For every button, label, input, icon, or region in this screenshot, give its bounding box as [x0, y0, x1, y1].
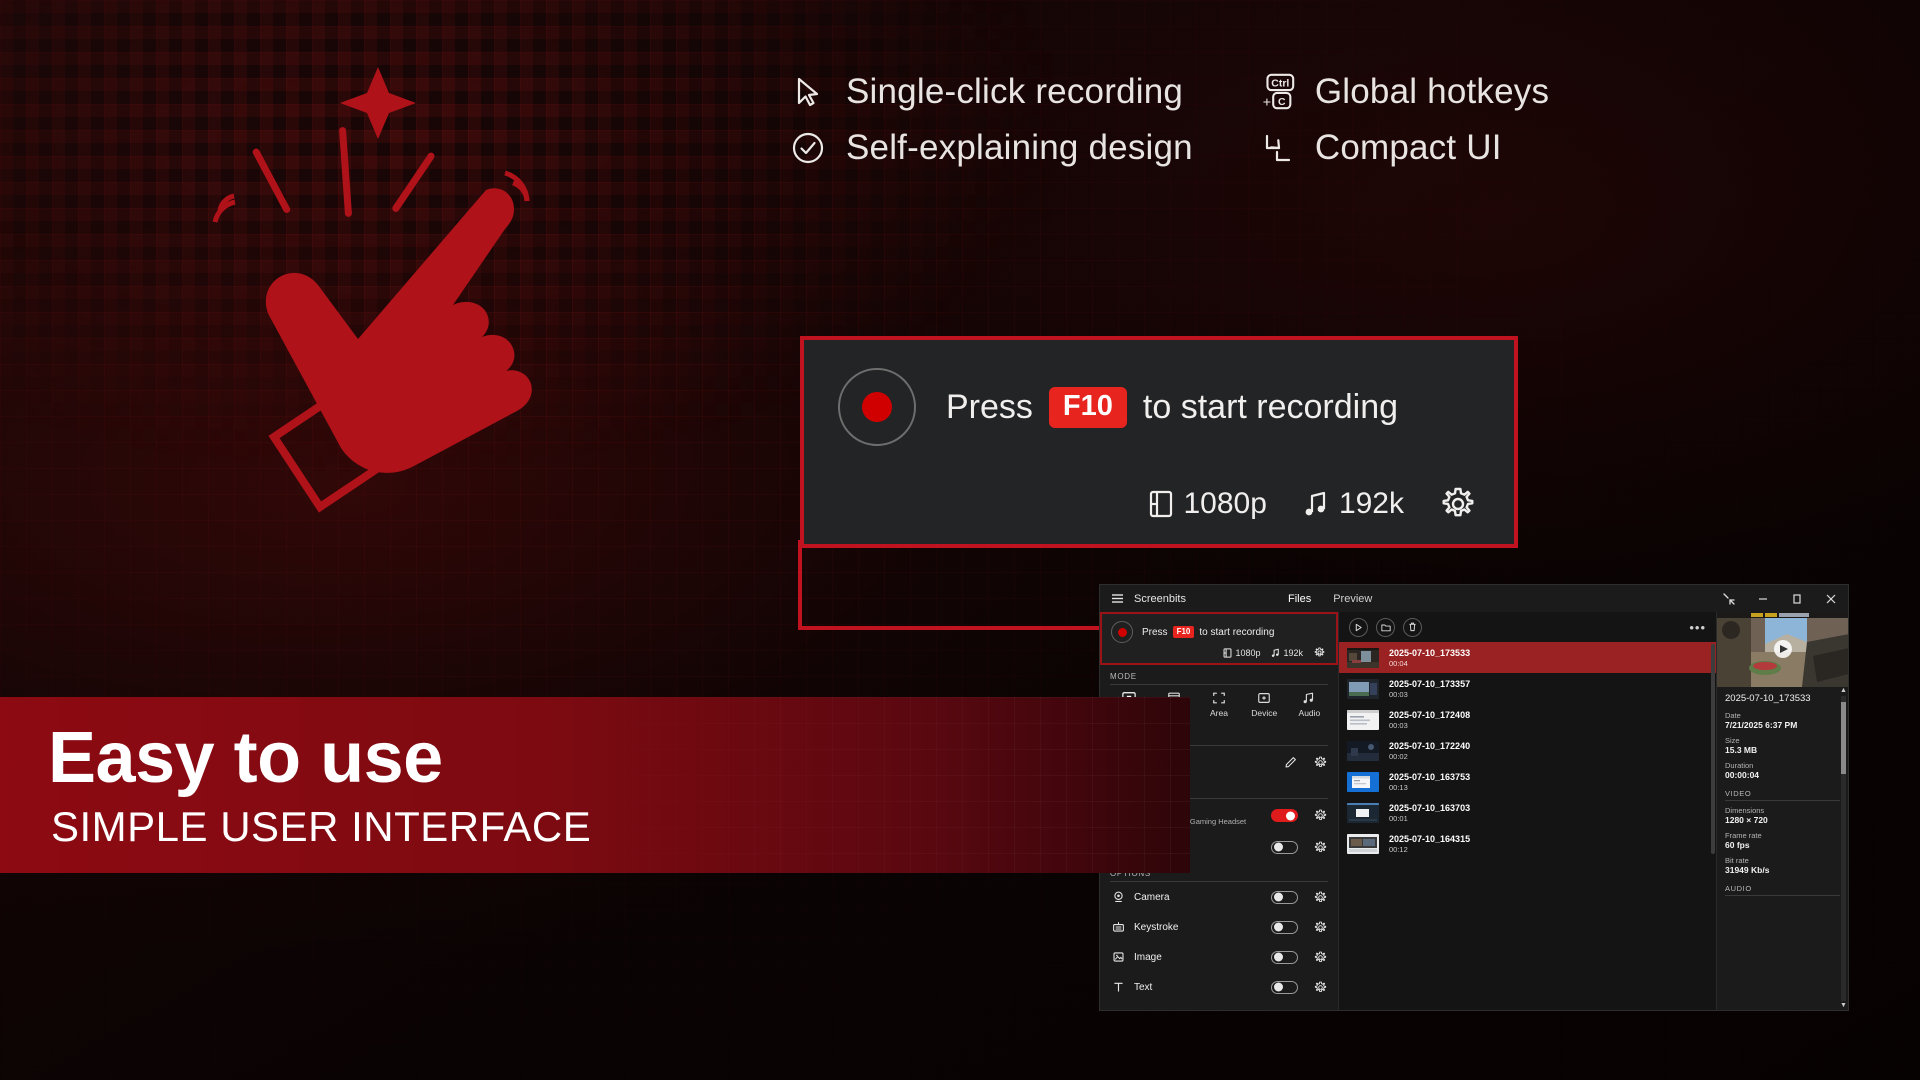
gear-icon[interactable]: [1312, 891, 1328, 904]
gear-icon[interactable]: [1312, 841, 1328, 854]
window-controls: [1712, 585, 1848, 612]
record-dot-icon: [862, 392, 892, 422]
feature-item-compact-ui: Compact UI: [1257, 128, 1549, 168]
image-toggle[interactable]: [1271, 951, 1298, 964]
file-list-item[interactable]: 2025-07-10_164315 00:12: [1339, 828, 1716, 859]
detail-value: 7/21/2025 6:37 PM: [1725, 720, 1840, 730]
detail-value: 31949 Kb/s: [1725, 865, 1840, 875]
option-title: Camera: [1134, 892, 1170, 903]
feature-item-self-explaining: Self-explaining design: [788, 128, 1193, 168]
thumbnail: [1347, 710, 1379, 730]
inline-widget-status: 1080p 192k: [1111, 647, 1327, 658]
hotkey-badge: F10: [1173, 626, 1195, 638]
motion-line-1: [251, 147, 291, 214]
gear-icon: [1440, 486, 1476, 522]
action-label: to start recording: [1143, 388, 1398, 427]
feature-list: Single-click recording Ctrl + C Global h…: [788, 72, 1549, 168]
option-row-camera[interactable]: Camera: [1100, 882, 1338, 912]
detail-label: Date: [1725, 711, 1840, 720]
mode-item-device[interactable]: Device: [1242, 691, 1287, 722]
detail-label: Size: [1725, 736, 1840, 745]
feature-label: Compact UI: [1315, 128, 1502, 168]
option-row-image[interactable]: Image: [1100, 942, 1338, 972]
open-folder-button[interactable]: [1376, 618, 1395, 637]
keyboard-icon: [1110, 920, 1126, 934]
file-name: 2025-07-10_164315: [1389, 834, 1470, 844]
option-row-keystroke[interactable]: Keystroke: [1100, 912, 1338, 942]
mode-label: Device: [1251, 708, 1277, 718]
ctrl-c-keys-icon: Ctrl + C: [1257, 72, 1297, 112]
gear-icon[interactable]: [1312, 981, 1328, 994]
gear-icon[interactable]: [1312, 921, 1328, 934]
file-list-item[interactable]: 2025-07-10_173357 00:03: [1339, 673, 1716, 704]
detail-value: 00:00:04: [1725, 770, 1840, 780]
camera-toggle[interactable]: [1271, 891, 1298, 904]
file-duration: 00:04: [1389, 659, 1470, 668]
file-name: 2025-07-10_173533: [1389, 648, 1470, 658]
app-titlebar: Screenbits Files Preview: [1100, 585, 1848, 612]
recording-widget-top-row: Press F10 to start recording: [838, 368, 1480, 446]
recording-hint: Press F10 to start recording: [946, 387, 1398, 428]
file-duration: 00:01: [1389, 814, 1470, 823]
mode-item-area[interactable]: Area: [1196, 691, 1241, 722]
resolution-value: 1080p: [1184, 487, 1267, 521]
gear-icon[interactable]: [1312, 809, 1328, 822]
detail-bitrate: Bit rate 31949 Kb/s: [1725, 856, 1840, 875]
divider: [1725, 895, 1840, 896]
speakers-toggle[interactable]: [1271, 809, 1298, 822]
details-title: 2025-07-10_173533: [1725, 693, 1840, 704]
hand-shape: [266, 188, 532, 473]
image-icon: [1110, 950, 1126, 964]
mode-label: Audio: [1299, 708, 1321, 718]
gear-icon[interactable]: [1312, 756, 1328, 769]
feature-label: Self-explaining design: [846, 128, 1193, 168]
bitrate-value: 192k: [1283, 648, 1303, 658]
scroll-down-arrow-icon[interactable]: ▼: [1840, 1002, 1847, 1010]
tab-files[interactable]: Files: [1288, 593, 1311, 605]
recording-widget-status-row: 1080p 192k: [838, 486, 1480, 522]
detail-value: 60 fps: [1725, 840, 1840, 850]
file-details: 2025-07-10_173533 Date 7/21/2025 6:37 PM…: [1717, 687, 1848, 1010]
compact-mode-button[interactable]: [1712, 585, 1746, 612]
knuckle-flick-left-2: [215, 202, 235, 222]
motion-line-3: [391, 151, 436, 213]
mode-label: Area: [1210, 708, 1228, 718]
divider: [1725, 800, 1840, 801]
callout-connector-line: [790, 540, 1130, 650]
app-title: Screenbits: [1134, 593, 1186, 605]
file-name: 2025-07-10_163753: [1389, 772, 1470, 782]
section-heading-mode: MODE: [1100, 665, 1338, 684]
file-duration: 00:13: [1389, 783, 1470, 792]
headline: Easy to use: [48, 721, 1190, 797]
record-button-small[interactable]: [1111, 621, 1133, 643]
detail-framerate: Frame rate 60 fps: [1725, 831, 1840, 850]
detail-label: Duration: [1725, 761, 1840, 770]
input-audio-toggle[interactable]: [1271, 841, 1298, 854]
music-note-icon: [1303, 490, 1329, 518]
thumbnail: [1347, 741, 1379, 761]
details-scrollbar[interactable]: ▲ ▼: [1840, 687, 1847, 1010]
feature-item-single-click: Single-click recording: [788, 72, 1193, 112]
option-title: Image: [1134, 952, 1162, 963]
collapse-arrows-icon: [1257, 128, 1297, 168]
file-duration: 00:03: [1389, 690, 1470, 699]
maximize-button[interactable]: [1780, 585, 1814, 612]
settings-button[interactable]: [1314, 647, 1325, 658]
edit-pencil-icon[interactable]: [1282, 756, 1298, 769]
recordings-list[interactable]: 2025-07-10_173533 00:04 2025-07-10_17335…: [1339, 642, 1716, 1010]
file-name: 2025-07-10_172408: [1389, 710, 1470, 720]
crop-area-icon: [1212, 691, 1226, 705]
file-duration: 00:03: [1389, 721, 1470, 730]
detail-dimensions: Dimensions 1280 × 720: [1725, 806, 1840, 825]
svg-text:Ctrl: Ctrl: [1271, 78, 1289, 89]
screenbits-app-window: Screenbits Files Preview: [1100, 585, 1848, 1010]
delete-button[interactable]: [1403, 618, 1422, 637]
option-title: Text: [1134, 982, 1152, 993]
bitrate-stat[interactable]: 192k: [1271, 648, 1303, 658]
feature-item-global-hotkeys: Ctrl + C Global hotkeys: [1257, 72, 1549, 112]
file-duration: 00:02: [1389, 752, 1470, 761]
details-section-audio: AUDIO: [1725, 881, 1840, 893]
pointing-hand-illustration: [195, 55, 565, 575]
thumbnail: [1347, 834, 1379, 854]
file-name: 2025-07-10_172240: [1389, 741, 1470, 751]
audio-wave-icon: [1302, 691, 1316, 705]
detail-date: Date 7/21/2025 6:37 PM: [1725, 711, 1840, 730]
minimize-button[interactable]: [1746, 585, 1780, 612]
svg-text:+: +: [1263, 94, 1271, 110]
file-list-item[interactable]: 2025-07-10_163703 00:01: [1339, 797, 1716, 828]
scroll-up-arrow-icon[interactable]: ▲: [1840, 687, 1847, 695]
bitrate-value: 192k: [1339, 487, 1404, 521]
record-dot-icon: [1118, 628, 1127, 637]
inline-widget-top: Press F10 to start recording: [1111, 621, 1327, 643]
inline-recording-widget: Press F10 to start recording 1080p 192k: [1100, 612, 1338, 665]
app-tabs: Files Preview: [1288, 593, 1372, 605]
detail-label: Frame rate: [1725, 831, 1840, 840]
option-row-text[interactable]: Text: [1100, 972, 1338, 1002]
preview-thumbnail[interactable]: [1717, 612, 1848, 687]
resolution-stat[interactable]: 1080p: [1223, 648, 1260, 658]
subheadline: SIMPLE USER INTERFACE: [51, 803, 1190, 851]
device-capture-icon: [1257, 691, 1271, 705]
text-icon: [1110, 980, 1126, 994]
press-label: Press: [946, 388, 1033, 427]
thumbnail: [1347, 772, 1379, 792]
press-label: Press: [1142, 627, 1168, 638]
app-body: Press F10 to start recording 1080p 192k: [1100, 612, 1848, 1010]
svg-text:C: C: [1278, 97, 1286, 108]
detail-size: Size 15.3 MB: [1725, 736, 1840, 755]
keystroke-toggle[interactable]: [1271, 921, 1298, 934]
feature-label: Single-click recording: [846, 72, 1183, 112]
hamburger-icon[interactable]: [1100, 593, 1134, 604]
play-button[interactable]: [1349, 618, 1368, 637]
close-button[interactable]: [1814, 585, 1848, 612]
hotkey-badge: F10: [1049, 387, 1127, 428]
detail-label: Bit rate: [1725, 856, 1840, 865]
file-duration: 00:12: [1389, 845, 1470, 854]
tab-preview[interactable]: Preview: [1333, 593, 1372, 605]
gear-icon[interactable]: [1312, 951, 1328, 964]
details-section-video: VIDEO: [1725, 786, 1840, 798]
promo-stage: Single-click recording Ctrl + C Global h…: [0, 0, 1920, 1080]
more-options-button[interactable]: •••: [1689, 620, 1706, 635]
resolution-stat[interactable]: 1080p: [1148, 487, 1267, 521]
bitrate-stat[interactable]: 192k: [1303, 487, 1404, 521]
detail-duration: Duration 00:00:04: [1725, 761, 1840, 780]
record-button[interactable]: [838, 368, 916, 446]
webcam-icon: [1110, 890, 1126, 904]
check-circle-icon: [788, 128, 828, 168]
cursor-arrow-icon: [788, 72, 828, 112]
promo-banner: Easy to use SIMPLE USER INTERFACE: [0, 697, 1190, 873]
list-scrollbar[interactable]: [1711, 644, 1715, 854]
file-list-item[interactable]: 2025-07-10_163753 00:13: [1339, 766, 1716, 797]
files-panel: ••• 2025-07-10_173533 00:04: [1338, 612, 1716, 1010]
details-panel: 2025-07-10_173533 Date 7/21/2025 6:37 PM…: [1716, 612, 1848, 1010]
scrollbar-thumb[interactable]: [1841, 702, 1846, 774]
detail-value: 1280 × 720: [1725, 815, 1840, 825]
option-title: Keystroke: [1134, 922, 1178, 933]
resolution-value: 1080p: [1235, 648, 1260, 658]
detail-label: Dimensions: [1725, 806, 1840, 815]
sparkle-star-icon: [340, 67, 416, 139]
film-icon: [1223, 648, 1232, 658]
file-list-item[interactable]: 2025-07-10_172240 00:02: [1339, 735, 1716, 766]
inline-recording-hint: Press F10 to start recording: [1142, 626, 1274, 638]
file-list-item[interactable]: 2025-07-10_172408 00:03: [1339, 704, 1716, 735]
file-list-item[interactable]: 2025-07-10_173533 00:04: [1339, 642, 1716, 673]
recording-widget-callout: Press F10 to start recording 1080p 192k: [800, 336, 1518, 548]
music-note-icon: [1271, 648, 1280, 658]
detail-value: 15.3 MB: [1725, 745, 1840, 755]
motion-line-2: [339, 127, 352, 217]
files-toolbar: •••: [1339, 612, 1716, 642]
mode-item-audio[interactable]: Audio: [1287, 691, 1332, 722]
feature-label: Global hotkeys: [1315, 72, 1549, 112]
gear-icon: [1314, 647, 1325, 658]
thumbnail: [1347, 803, 1379, 823]
thumbnail: [1347, 648, 1379, 668]
settings-button[interactable]: [1440, 486, 1476, 522]
file-name: 2025-07-10_163703: [1389, 803, 1470, 813]
film-icon: [1148, 490, 1174, 518]
thumbnail: [1347, 679, 1379, 699]
file-name: 2025-07-10_173357: [1389, 679, 1470, 689]
text-toggle[interactable]: [1271, 981, 1298, 994]
action-label: to start recording: [1199, 627, 1274, 638]
